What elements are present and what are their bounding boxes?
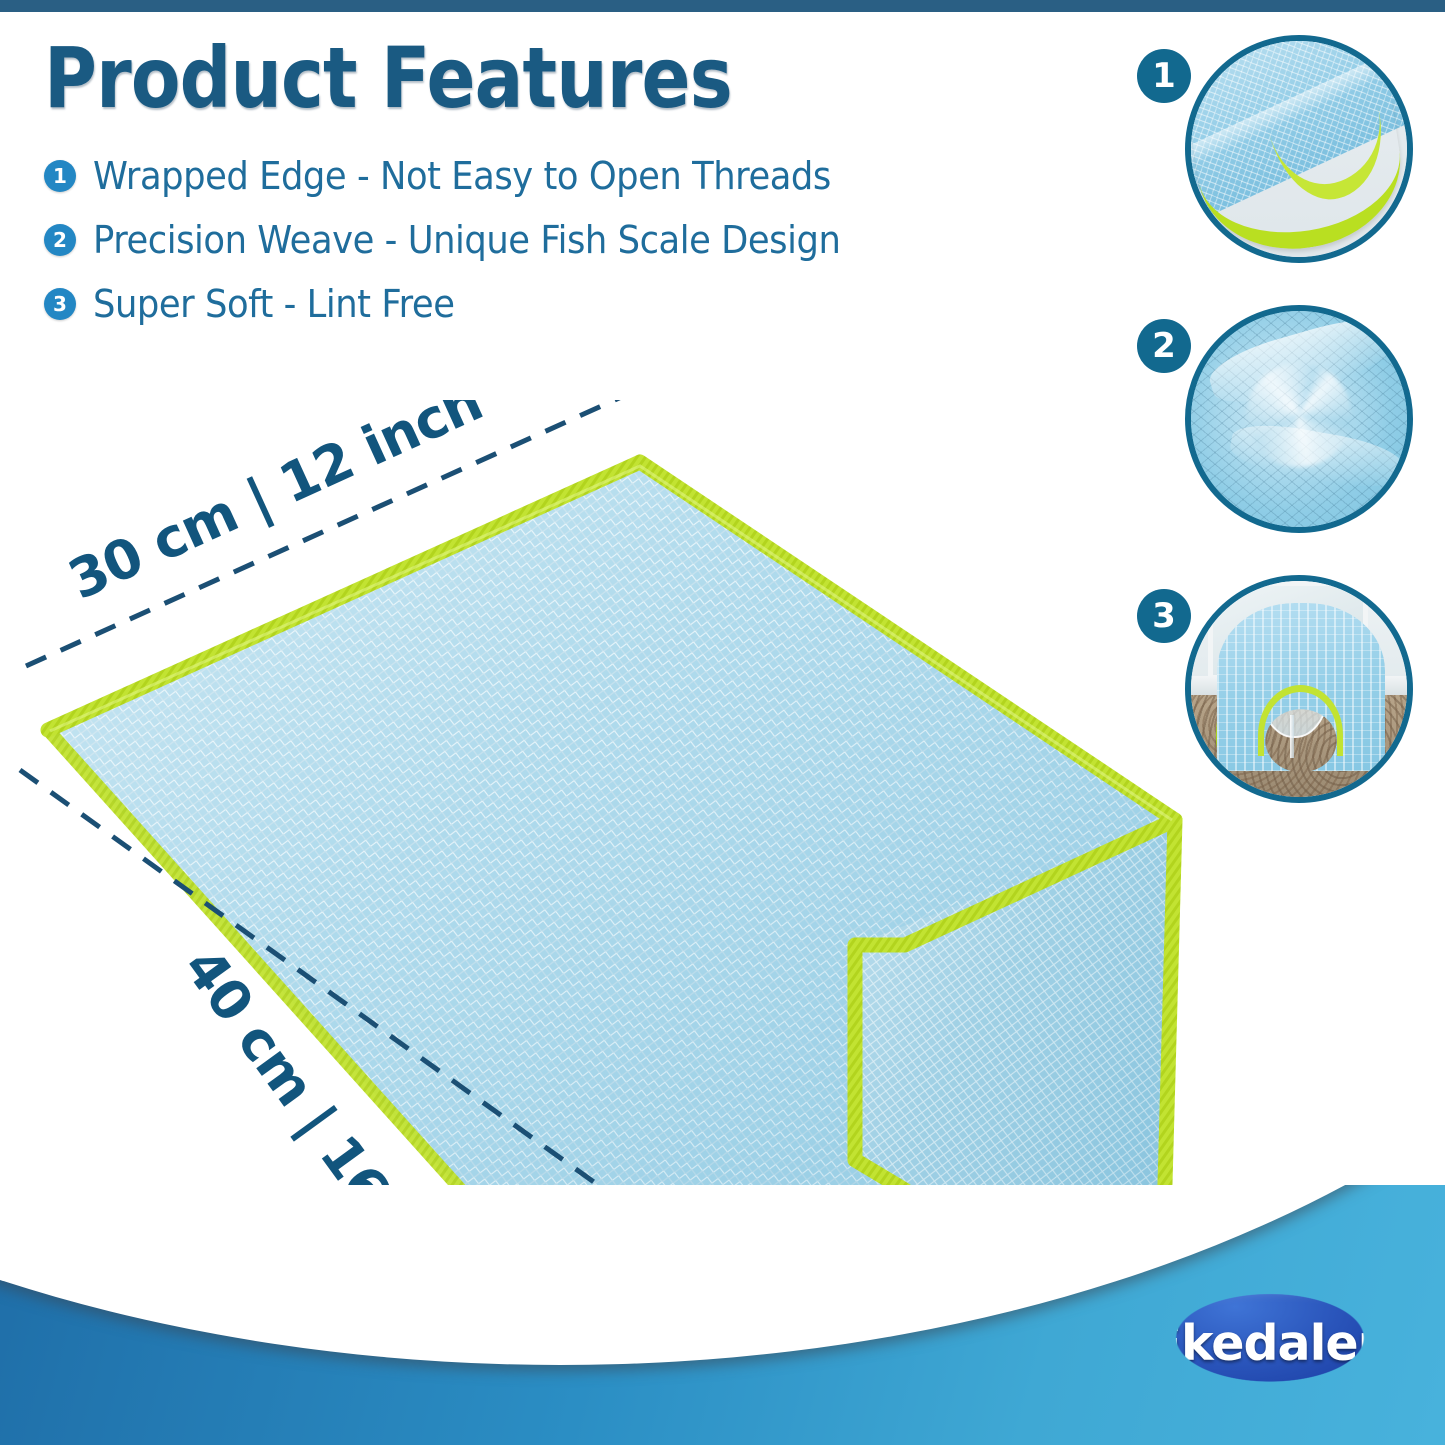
brand-footer-band: Ekedalen [0, 1185, 1445, 1445]
thumbnail-1-badge: 1 [1137, 49, 1191, 103]
product-infographic: Product Features 1 Wrapped Edge - Not Ea… [0, 0, 1445, 1445]
feature-item-2: 2 Precision Weave - Unique Fish Scale De… [44, 218, 864, 262]
brand-logo-text: Ekedalen [1148, 1315, 1391, 1372]
brand-logo: Ekedalen [1125, 1285, 1415, 1405]
feature-number-badge-3: 3 [44, 288, 76, 320]
feature-label-1: Wrapped Edge - Not Easy to Open Threads [93, 154, 831, 198]
feature-list: 1 Wrapped Edge - Not Easy to Open Thread… [44, 154, 864, 326]
feature-item-1: 1 Wrapped Edge - Not Easy to Open Thread… [44, 154, 864, 198]
feature-label-2: Precision Weave - Unique Fish Scale Desi… [93, 218, 840, 262]
feature-label-3: Super Soft - Lint Free [93, 282, 454, 326]
thumbnail-1-image [1185, 35, 1413, 263]
headline-block: Product Features 1 Wrapped Edge - Not Ea… [44, 36, 864, 346]
page-title: Product Features [44, 36, 749, 122]
feature-number-badge-2: 2 [44, 224, 76, 256]
thumbnail-2-badge: 2 [1137, 319, 1191, 373]
feature-item-3: 3 Super Soft - Lint Free [44, 282, 864, 326]
top-rule [0, 0, 1445, 12]
feature-number-badge-1: 1 [44, 160, 76, 192]
thumbnail-3-badge: 3 [1137, 589, 1191, 643]
hero-cloth-illustration: 30 cm | 12 inch 40 cm | 16 inch [0, 400, 1260, 1300]
